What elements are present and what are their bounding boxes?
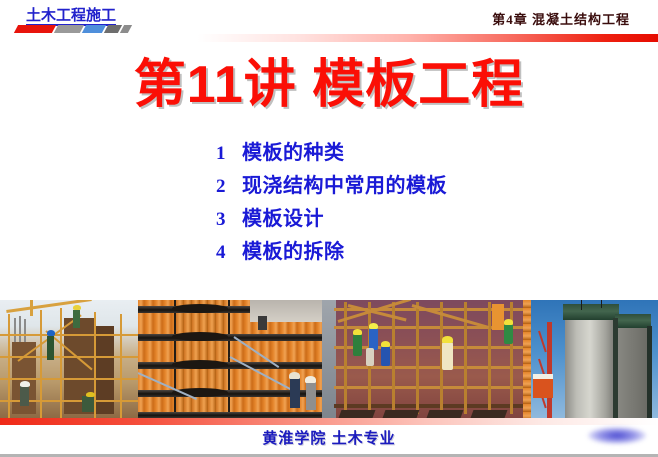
photo-large-formwork-with-workers bbox=[322, 300, 523, 418]
outline-list: 1 模板的种类 2 现浇结构中常用的模板 3 模板设计 4 模板的拆除 bbox=[216, 136, 636, 268]
photo-3-art bbox=[322, 300, 523, 418]
course-title: 土木工程施工 bbox=[26, 8, 116, 26]
photo-strip-underline bbox=[0, 418, 658, 425]
decor-segment-red bbox=[14, 25, 56, 33]
list-item-number: 3 bbox=[216, 209, 242, 231]
decor-segment-blue bbox=[82, 25, 106, 33]
footer-affiliation: 黄淮学院 土木专业 bbox=[0, 427, 658, 448]
photo-1-art bbox=[0, 300, 138, 418]
list-item[interactable]: 1 模板的种类 bbox=[216, 136, 636, 165]
list-item-label: 模板的种类 bbox=[242, 136, 345, 165]
photo-4-art bbox=[523, 300, 658, 418]
list-item-number: 2 bbox=[216, 176, 242, 198]
decor-segment-gray1 bbox=[54, 25, 84, 33]
list-item[interactable]: 2 现浇结构中常用的模板 bbox=[216, 169, 636, 198]
slide-header: 土木工程施工 第4章 混凝土结构工程 bbox=[0, 0, 658, 46]
list-item[interactable]: 3 模板设计 bbox=[216, 202, 636, 231]
header-gradient-rule bbox=[0, 34, 658, 42]
list-item-label: 现浇结构中常用的模板 bbox=[242, 169, 447, 198]
footer-decor-blob bbox=[588, 427, 646, 444]
photo-strip bbox=[0, 300, 658, 418]
list-item-number: 1 bbox=[216, 143, 242, 165]
photo-scaffolding-column-formwork bbox=[0, 300, 138, 418]
list-item-number: 4 bbox=[216, 242, 242, 264]
photo-2-art bbox=[138, 300, 322, 418]
slide: 土木工程施工 第4章 混凝土结构工程 第11讲 模板工程 1 模板的种类 2 现… bbox=[0, 0, 658, 457]
list-item-label: 模板设计 bbox=[242, 202, 324, 231]
photo-orange-timber-wall-formwork bbox=[138, 300, 322, 418]
page-title: 第11讲 模板工程 bbox=[0, 54, 658, 116]
list-item[interactable]: 4 模板的拆除 bbox=[216, 235, 636, 264]
photo-concrete-pier-climbing-formwork bbox=[523, 300, 658, 418]
slide-footer: 黄淮学院 土木专业 bbox=[0, 425, 658, 454]
header-decor-bar bbox=[16, 25, 126, 33]
decor-segment-gray3 bbox=[120, 25, 132, 33]
list-item-label: 模板的拆除 bbox=[242, 235, 345, 264]
chapter-title: 第4章 混凝土结构工程 bbox=[492, 9, 630, 28]
